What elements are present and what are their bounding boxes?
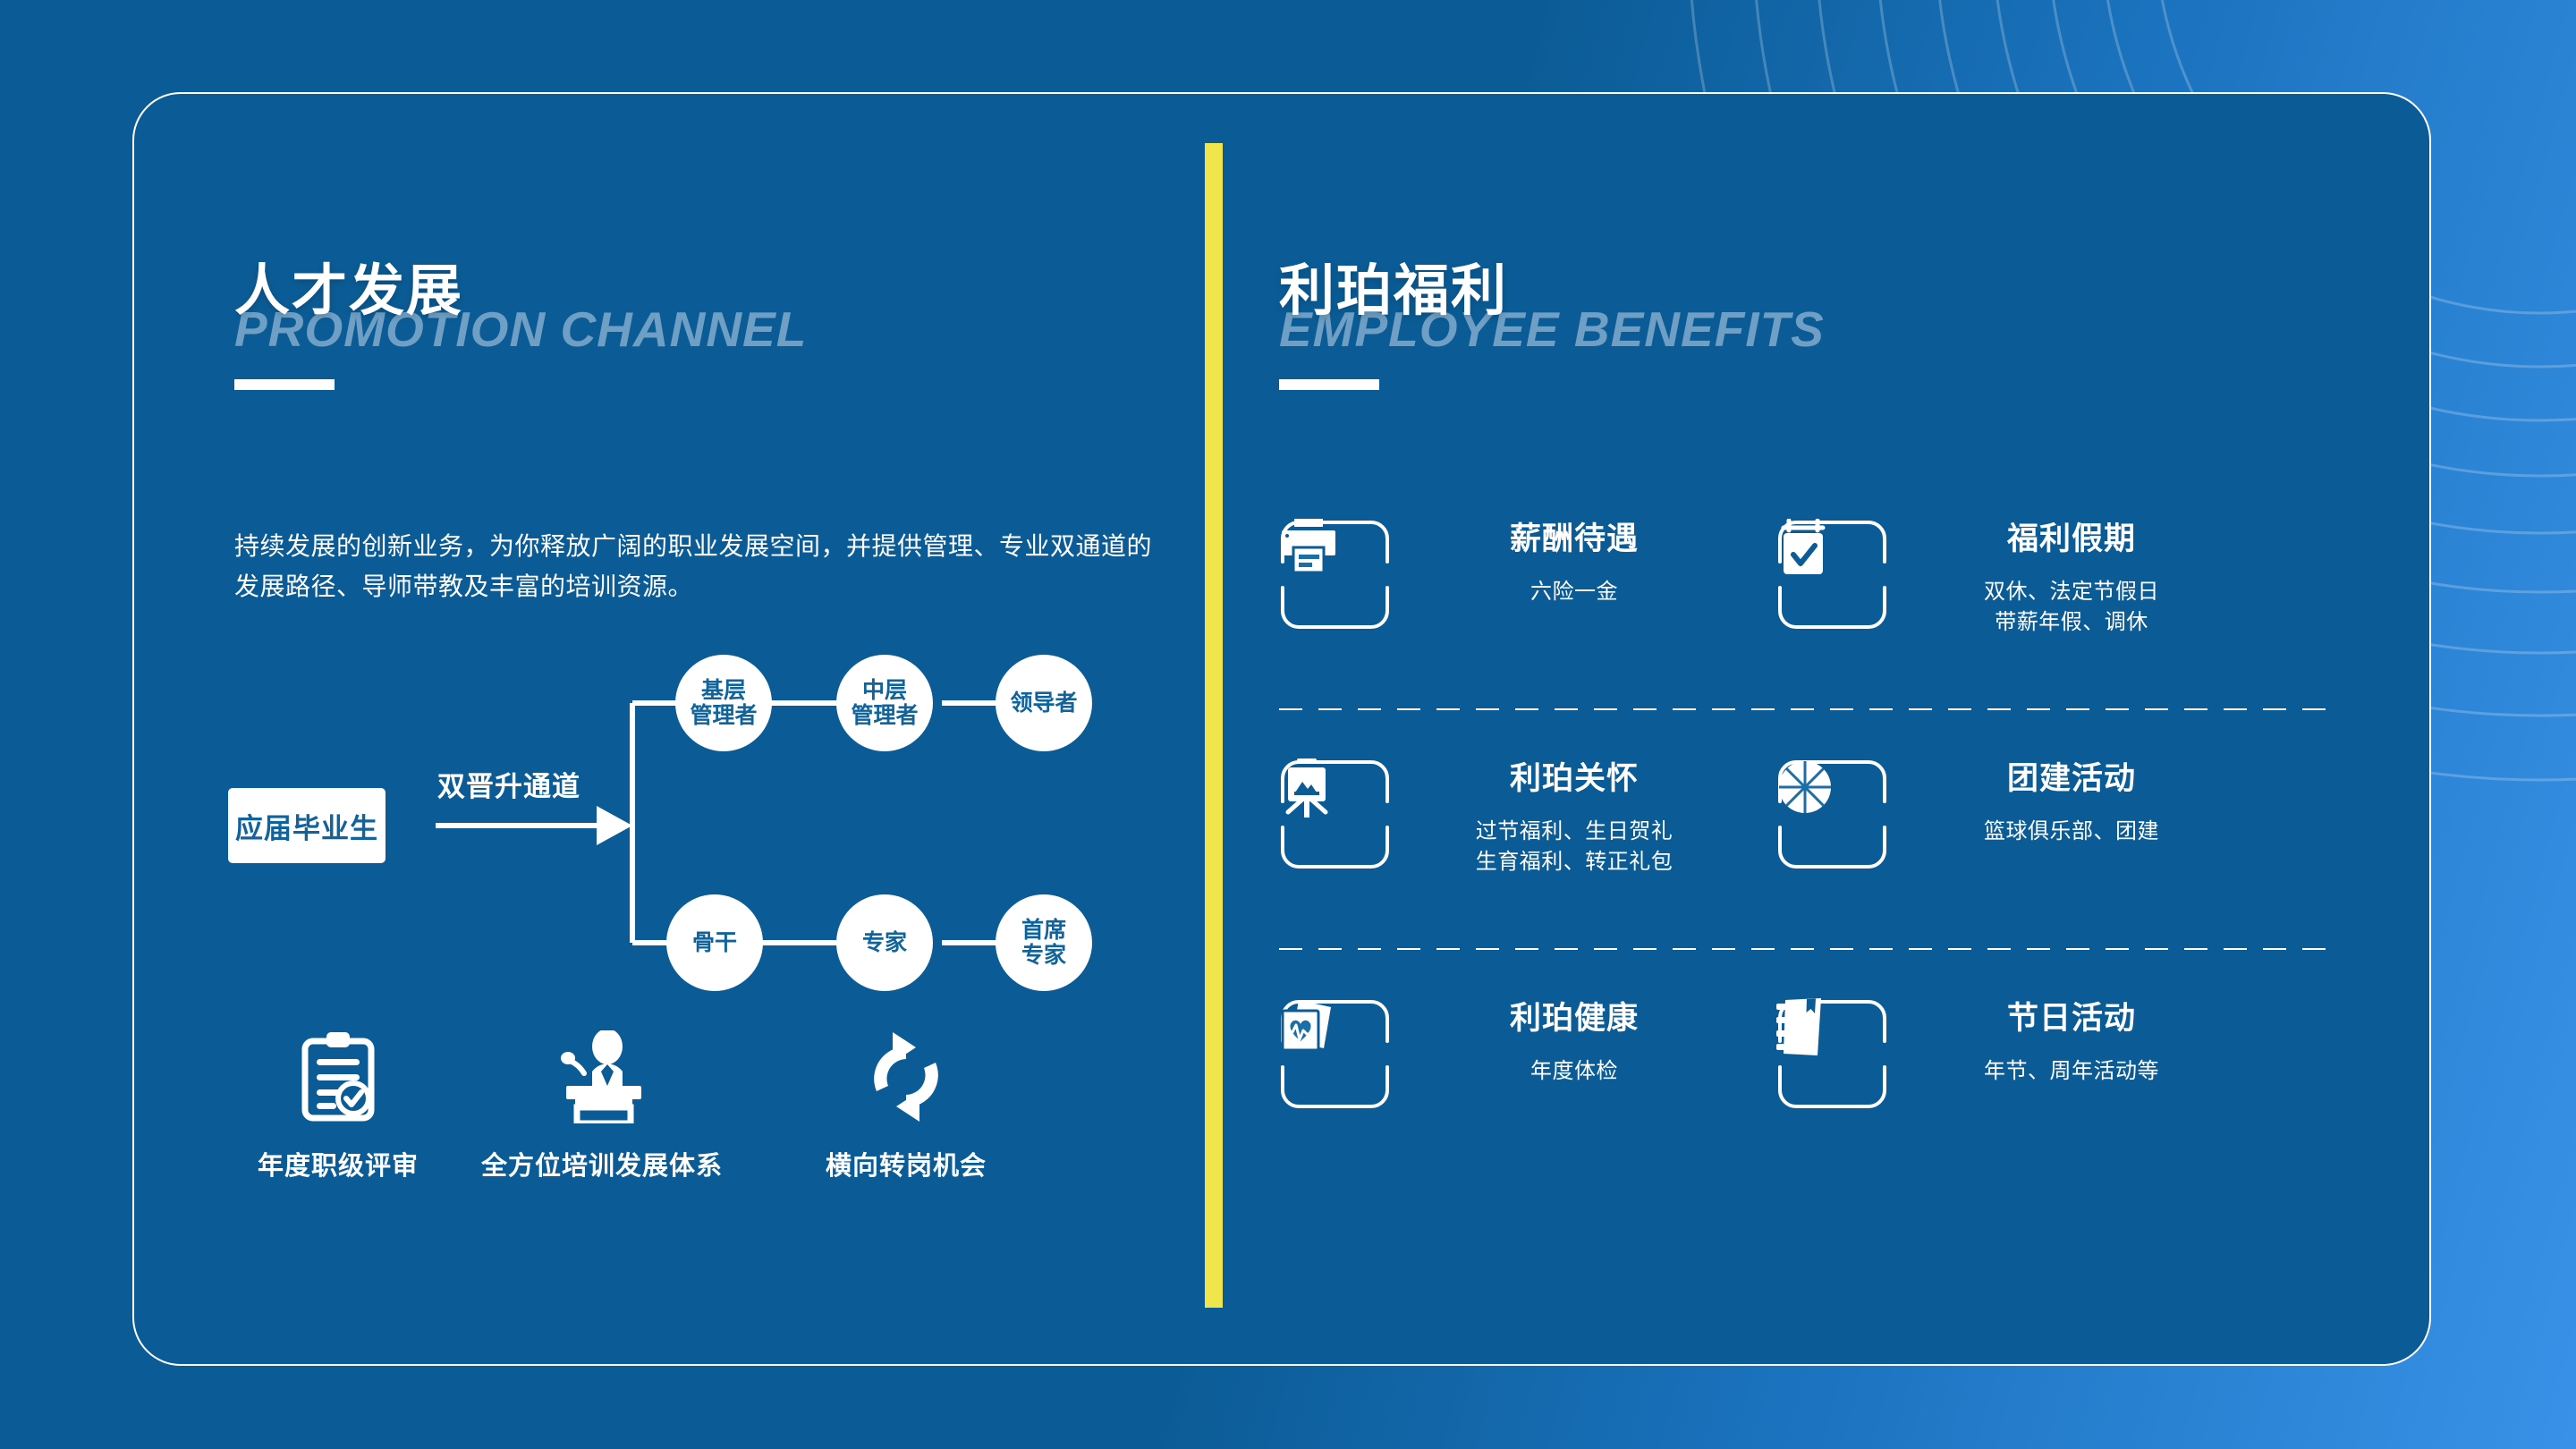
benefit-title: 团建活动 <box>1924 762 2219 797</box>
benefits-separator-2 <box>1279 948 2334 952</box>
benefit-text: 团建活动 篮球俱乐部、团建 <box>1924 758 2219 847</box>
benefit-desc: 过节福利、生日贺礼生育福利、转正礼包 <box>1427 817 1722 877</box>
benefits-grid: 薪酬待遇 六险一金 <box>1279 519 2334 1141</box>
benefit-team-building: 团建活动 篮球俱乐部、团建 <box>1776 758 2219 870</box>
feature-label: 年度职级评审 <box>204 1145 472 1182</box>
node-line-2: 管理者 <box>690 703 757 728</box>
icon-frame <box>1279 758 1391 870</box>
benefit-title: 福利假期 <box>1924 522 2219 557</box>
calendar-check-icon <box>1776 519 1888 631</box>
notebook-icon <box>1776 998 1888 1110</box>
benefits-title-rule <box>1279 379 1379 390</box>
benefit-desc: 篮球俱乐部、团建 <box>1924 817 2219 847</box>
icon-frame <box>1776 519 1888 631</box>
diagram-node-expert: 专家 <box>836 894 933 991</box>
clipboard-check-icon <box>204 1027 472 1123</box>
benefit-title: 节日活动 <box>1924 1002 2219 1037</box>
benefits-title-zh: 利珀福利 <box>1279 264 1825 319</box>
icon-frame <box>1776 998 1888 1110</box>
promotion-description: 持续发展的创新业务，为你释放广阔的职业发展空间，并提供管理、专业双通道的发展路径… <box>234 526 1156 607</box>
benefits-row: 薪酬待遇 六险一金 <box>1279 519 2334 662</box>
diagram-arrow-label: 双晋升通道 <box>437 764 580 804</box>
printer-icon <box>1279 519 1391 631</box>
benefit-festival: 节日活动 年节、周年活动等 <box>1776 998 2219 1110</box>
benefit-desc: 年度体检 <box>1427 1056 1722 1087</box>
easel-board-icon <box>1279 758 1391 870</box>
podium-speaker-icon <box>468 1027 736 1123</box>
promotion-title-zh: 人才发展 <box>234 264 807 319</box>
promotion-feature-list: 年度职级评审 全方位培训发展体系 <box>228 1027 1176 1233</box>
benefits-section-header: 利珀福利 EMPLOYEE BENEFITS <box>1279 264 1825 390</box>
node-line-1: 首席 <box>1021 918 1066 943</box>
benefit-text: 薪酬待遇 六险一金 <box>1427 519 1722 607</box>
diagram-node-middle-manager: 中层 管理者 <box>836 655 933 751</box>
feature-annual-review: 年度职级评审 <box>204 1027 472 1182</box>
benefit-text: 利珀健康 年度体检 <box>1427 998 1722 1087</box>
benefit-health: 利珀健康 年度体检 <box>1279 998 1722 1110</box>
benefits-row: 利珀健康 年度体检 <box>1279 998 2334 1141</box>
benefit-text: 节日活动 年节、周年活动等 <box>1924 998 2219 1087</box>
benefit-holidays: 福利假期 双休、法定节假日带薪年假、调休 <box>1776 519 2219 638</box>
feature-label: 横向转岗机会 <box>772 1145 1040 1182</box>
benefit-care: 利珀关怀 过节福利、生日贺礼生育福利、转正礼包 <box>1279 758 1722 877</box>
node-line-1: 领导者 <box>1010 691 1077 716</box>
basketball-icon <box>1776 758 1888 870</box>
benefit-desc: 六险一金 <box>1427 577 1722 607</box>
icon-frame <box>1776 758 1888 870</box>
diagram-node-leader: 领导者 <box>996 655 1092 751</box>
benefit-text: 利珀关怀 过节福利、生日贺礼生育福利、转正礼包 <box>1427 758 1722 877</box>
diagram-start-node: 应届毕业生 <box>228 788 386 863</box>
node-line-1: 中层 <box>851 678 918 703</box>
benefit-salary: 薪酬待遇 六险一金 <box>1279 519 1722 631</box>
icon-frame <box>1279 519 1391 631</box>
diagram-node-junior-manager: 基层 管理者 <box>675 655 772 751</box>
recycle-arrows-icon <box>772 1027 1040 1123</box>
node-line-1: 专家 <box>862 930 907 955</box>
benefit-title: 利珀健康 <box>1427 1002 1722 1037</box>
benefit-title: 薪酬待遇 <box>1427 522 1722 557</box>
benefits-separator-1 <box>1279 708 2334 712</box>
diagram-node-backbone: 骨干 <box>666 894 763 991</box>
feature-lateral-transfer: 横向转岗机会 <box>772 1027 1040 1182</box>
promotion-diagram: 应届毕业生 双晋升通道 基层 管理者 中层 管理者 领导者 骨干 专家 <box>228 642 1176 1000</box>
node-line-1: 基层 <box>690 678 757 703</box>
benefit-desc: 年节、周年活动等 <box>1924 1056 2219 1087</box>
node-line-2: 管理者 <box>851 703 918 728</box>
node-line-2: 专家 <box>1021 943 1066 968</box>
slide-canvas: 人才发展 PROMOTION CHANNEL 持续发展的创新业务，为你释放广阔的… <box>0 0 2576 1449</box>
node-line-1: 骨干 <box>692 930 737 955</box>
benefit-desc: 双休、法定节假日带薪年假、调休 <box>1924 577 2219 638</box>
benefit-text: 福利假期 双休、法定节假日带薪年假、调休 <box>1924 519 2219 638</box>
benefits-row: 利珀关怀 过节福利、生日贺礼生育福利、转正礼包 <box>1279 758 2334 902</box>
benefit-title: 利珀关怀 <box>1427 762 1722 797</box>
icon-frame <box>1279 998 1391 1110</box>
promotion-section-header: 人才发展 PROMOTION CHANNEL <box>234 264 807 390</box>
feature-label: 全方位培训发展体系 <box>468 1145 736 1182</box>
diagram-node-chief-expert: 首席 专家 <box>996 894 1092 991</box>
vertical-divider <box>1205 143 1223 1308</box>
feature-training-system: 全方位培训发展体系 <box>468 1027 736 1182</box>
promotion-title-rule <box>234 379 335 390</box>
health-record-icon <box>1279 998 1391 1110</box>
